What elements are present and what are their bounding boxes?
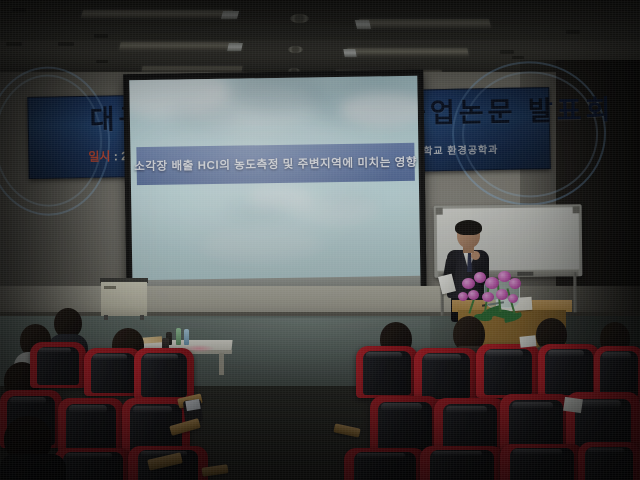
ceiling-light-fixture: [81, 10, 233, 18]
auditorium-seat[interactable]: [500, 444, 584, 480]
orchid-bloom: [485, 277, 499, 289]
auditorium-seat[interactable]: [538, 344, 600, 398]
handout-paper: [519, 335, 536, 348]
auditorium-seat[interactable]: [30, 342, 86, 388]
auditorium-seat[interactable]: [134, 348, 194, 400]
auditorium-seat[interactable]: [356, 346, 418, 398]
auditorium-seat[interactable]: [476, 344, 540, 398]
ceiling-light-fixture: [227, 43, 243, 51]
orchid-bloom: [496, 289, 508, 300]
audience-seating-area: [0, 300, 640, 480]
projection-screen: 소각장 배출 HCl의 농도측정 및 주변지역에 미치는 영향: [123, 70, 427, 307]
seat-tablet-arm[interactable]: [333, 423, 360, 437]
ceiling-light-fixture: [119, 42, 239, 50]
orchid-bloom: [468, 290, 479, 300]
ceiling-light-fixture: [355, 20, 371, 29]
ceiling-vent: [290, 14, 309, 23]
auditorium-presentation-photo: 대구대학교 환경공학과 졸업논문 발표회 발표회 일시 : 2009. 11. …: [0, 0, 640, 480]
orchid-bloom: [462, 278, 475, 289]
handout-paper: [563, 397, 583, 413]
audience-member: [0, 416, 66, 480]
auditorium-seat[interactable]: [344, 448, 426, 480]
auditorium-seat[interactable]: [420, 446, 504, 480]
orchid-bloom: [509, 278, 521, 289]
ceiling-light-fixture: [359, 19, 491, 28]
auditorium-seat[interactable]: [414, 348, 478, 402]
ceiling-light-fixture: [221, 11, 239, 19]
auditorium-seat[interactable]: [578, 442, 640, 480]
